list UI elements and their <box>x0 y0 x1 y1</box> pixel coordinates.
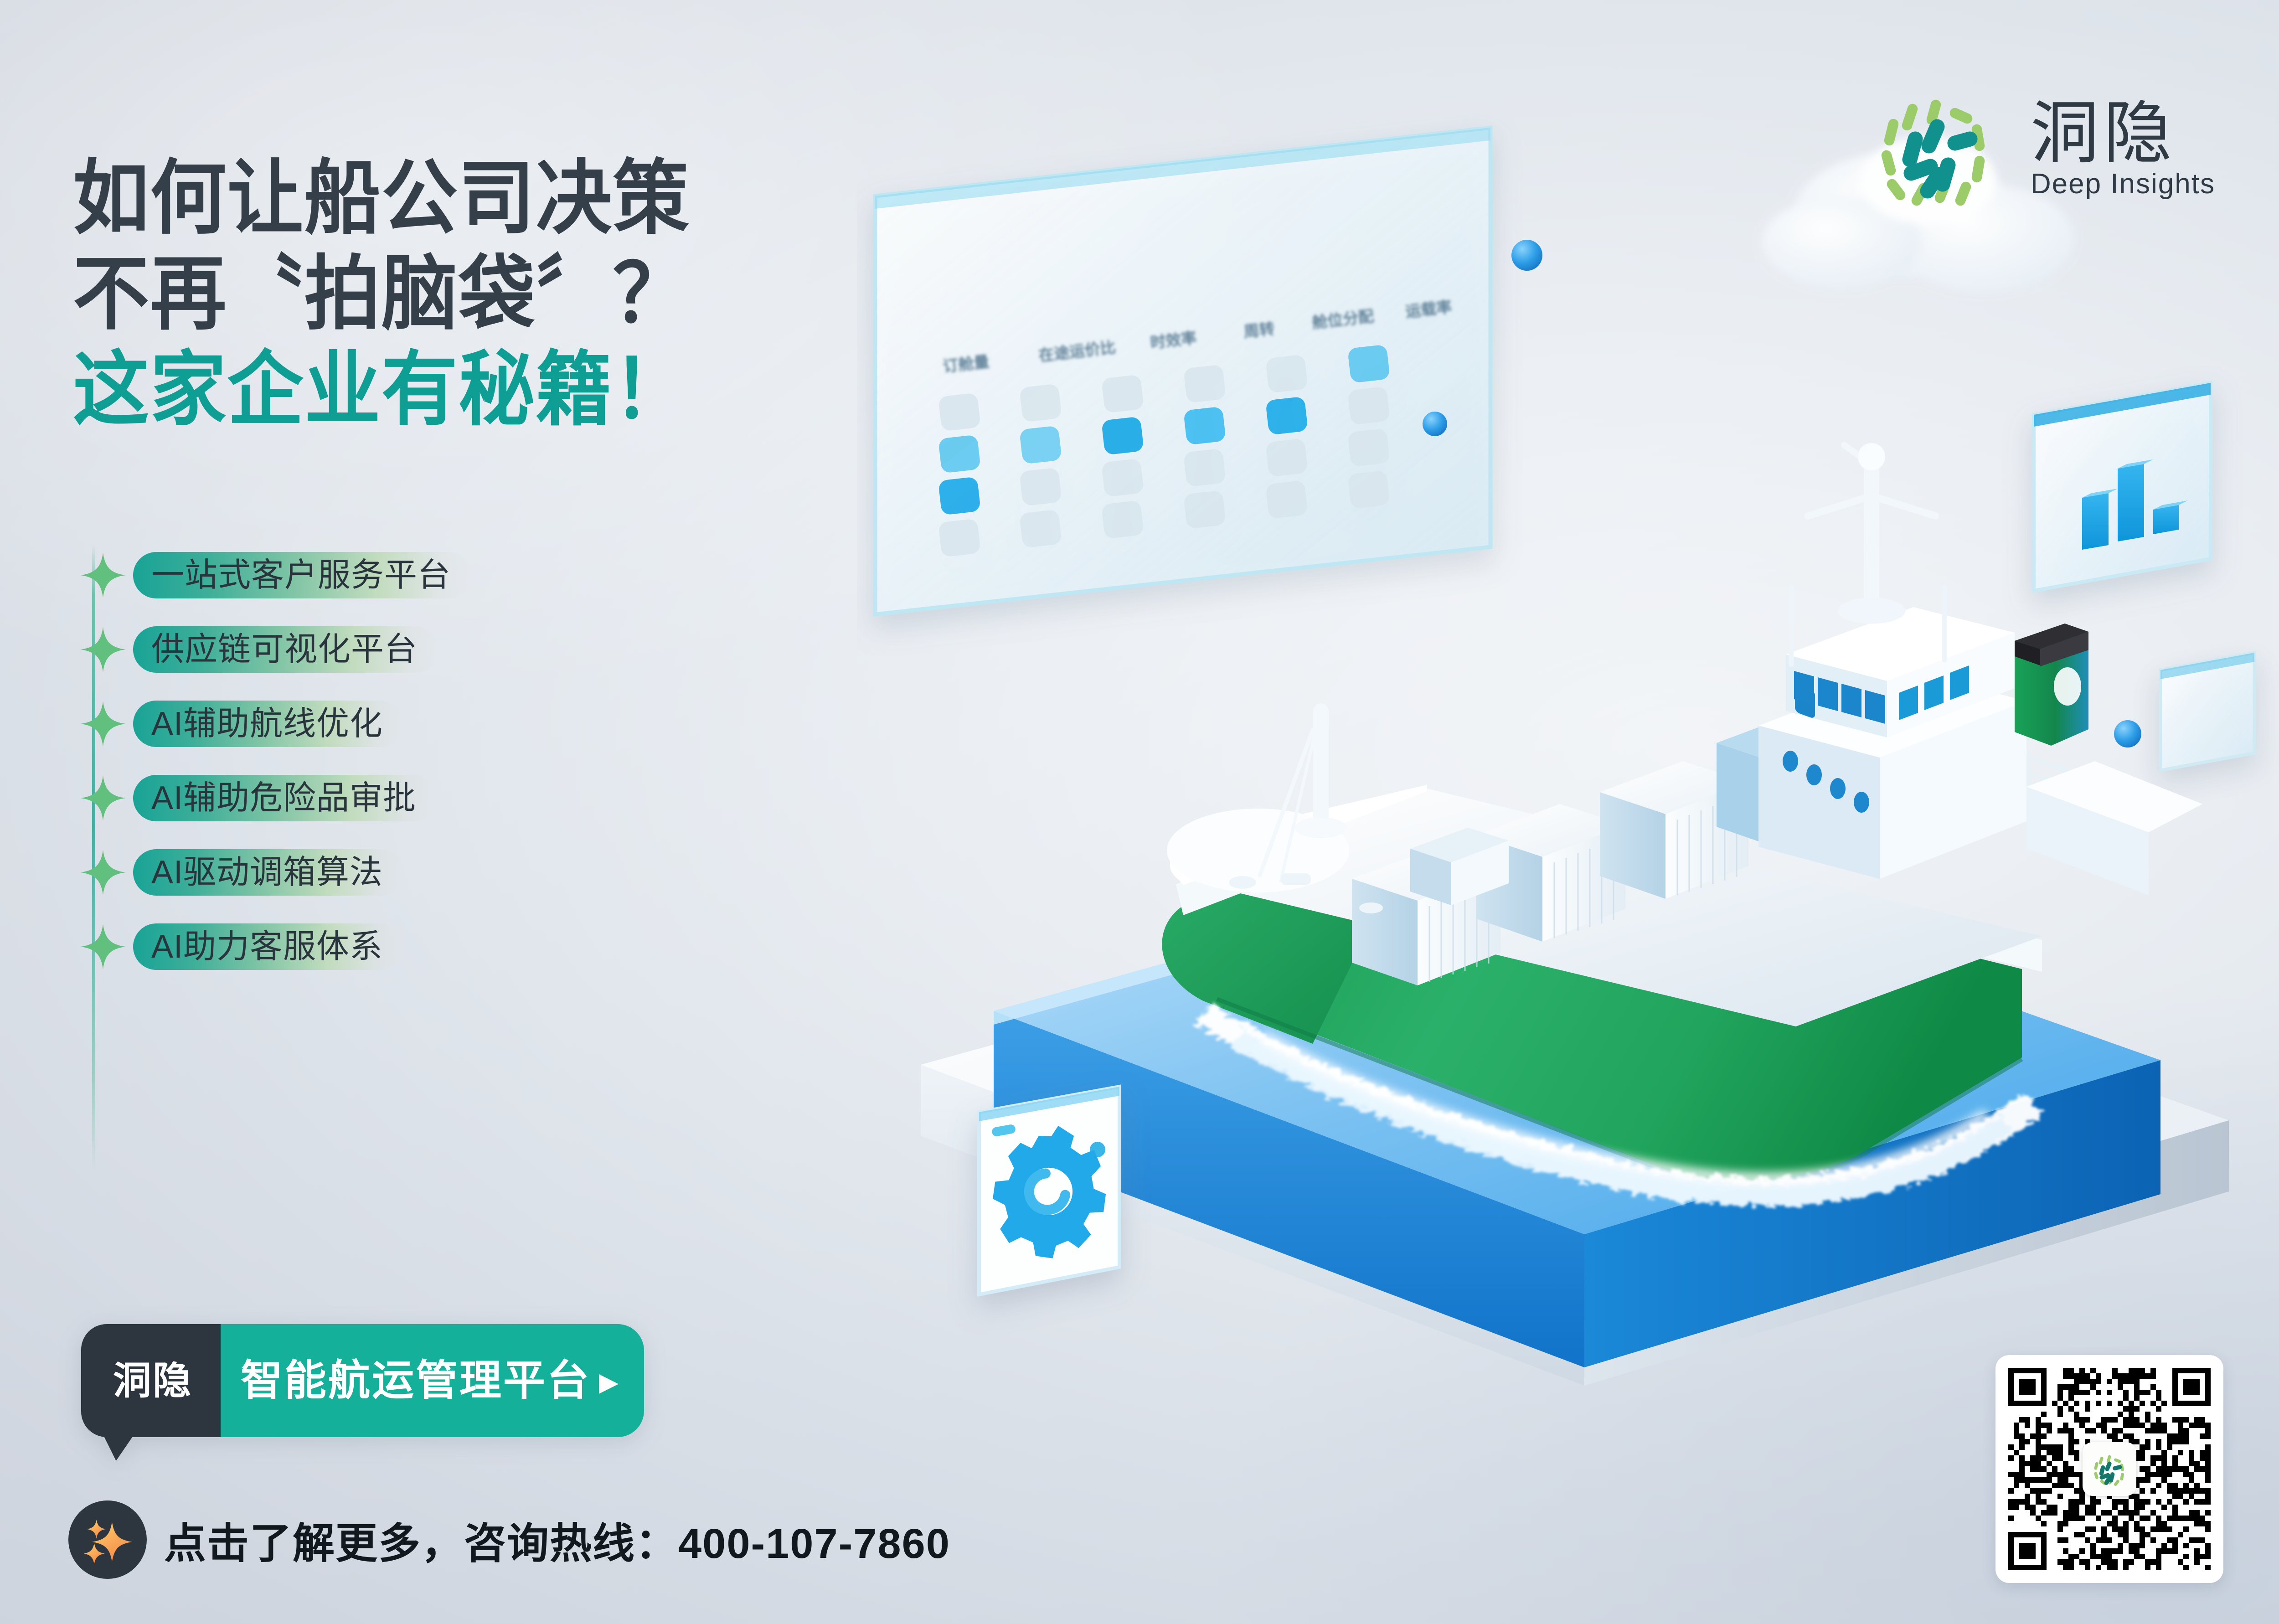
isometric-ship-illustration: 订舱量 在途运价比 时效率 周转 舱位分配 运载率 <box>857 64 2279 1513</box>
feature-item-4[interactable]: AI驱动调箱算法 <box>55 835 830 909</box>
feature-label-2: AI辅助航线优化 <box>151 707 383 740</box>
logo-name-en: Deep Insights <box>2031 170 2215 198</box>
svg-text:周转: 周转 <box>1243 320 1276 341</box>
feature-item-2[interactable]: AI辅助航线优化 <box>55 686 830 761</box>
cta-brand-badge[interactable]: 洞隐 <box>81 1324 221 1437</box>
headline-line-1: 如何让船公司决策 <box>73 150 951 246</box>
feature-label-4: AI驱动调箱算法 <box>151 856 383 889</box>
hotline-text: 点击了解更多，咨询热线：400-107-7860 <box>164 1510 950 1570</box>
bar-chart-card <box>2034 383 2211 591</box>
feature-list: 一站式客户服务平台 供应链可视化平台 AI辅助航线优化 AI辅助 <box>55 538 830 984</box>
small-glass-card <box>2160 653 2254 770</box>
headline-line-3: 这家企业有秘籍！ <box>73 342 951 438</box>
sparkle-star-icon <box>78 551 128 600</box>
hotline-row[interactable]: 点击了解更多，咨询热线：400-107-7860 <box>68 1494 950 1585</box>
qr-canvas <box>2008 1368 2211 1570</box>
feature-label-5: AI助力客服体系 <box>151 930 383 963</box>
feature-label-3: AI辅助危险品审批 <box>151 782 416 815</box>
feature-label-1: 供应链可视化平台 <box>151 633 418 666</box>
cta-main-banner[interactable]: 智能航运管理平台 ▶ <box>205 1324 644 1437</box>
feature-pill-2[interactable]: AI辅助航线优化 <box>133 701 404 747</box>
feature-pill-1[interactable]: 供应链可视化平台 <box>133 626 438 673</box>
poster-canvas: 订舱量 在途运价比 时效率 周转 舱位分配 运载率 <box>0 0 2279 1624</box>
sparkle-star-icon <box>78 848 128 897</box>
headline-line-2: 不再〝拍脑袋〞？ <box>73 246 951 342</box>
sparkle-star-icon <box>78 625 128 674</box>
brand-logo: 洞隐 Deep Insights <box>1873 80 2215 217</box>
settings-card <box>979 1087 1119 1294</box>
sparkle-star-icon <box>78 699 128 748</box>
funnel <box>2015 624 2088 746</box>
feature-pill-0[interactable]: 一站式客户服务平台 <box>133 552 472 598</box>
qr-code-icon[interactable] <box>1995 1355 2223 1583</box>
logo-wordmark: 洞隐 Deep Insights <box>2031 99 2215 198</box>
logo-name-cn: 洞隐 <box>2031 99 2215 167</box>
sparkle-star-icon <box>78 922 128 971</box>
play-triangle-icon: ▶ <box>599 1369 619 1395</box>
scattered-capsules-logo-icon <box>1873 80 2010 217</box>
qr-center-logo <box>2083 1442 2136 1496</box>
sparkle-star-icon <box>78 773 128 823</box>
feature-item-0[interactable]: 一站式客户服务平台 <box>55 538 830 612</box>
feature-item-3[interactable]: AI辅助危险品审批 <box>55 761 830 835</box>
feature-item-5[interactable]: AI助力客服体系 <box>55 909 830 984</box>
sparkles-icon <box>68 1500 147 1579</box>
feature-pill-3[interactable]: AI辅助危险品审批 <box>133 775 437 821</box>
cta-button[interactable]: 洞隐 智能航运管理平台 ▶ <box>81 1324 644 1437</box>
feature-pill-5[interactable]: AI助力客服体系 <box>133 923 404 970</box>
feature-pill-4[interactable]: AI驱动调箱算法 <box>133 849 404 896</box>
feature-label-0: 一站式客户服务平台 <box>151 559 451 592</box>
feature-item-1[interactable]: 供应链可视化平台 <box>55 612 830 686</box>
headline-block: 如何让船公司决策 不再〝拍脑袋〞？ 这家企业有秘籍！ <box>73 150 1007 438</box>
cta-label: 智能航运管理平台 <box>241 1360 591 1402</box>
cta-badge-label: 洞隐 <box>113 1361 192 1400</box>
